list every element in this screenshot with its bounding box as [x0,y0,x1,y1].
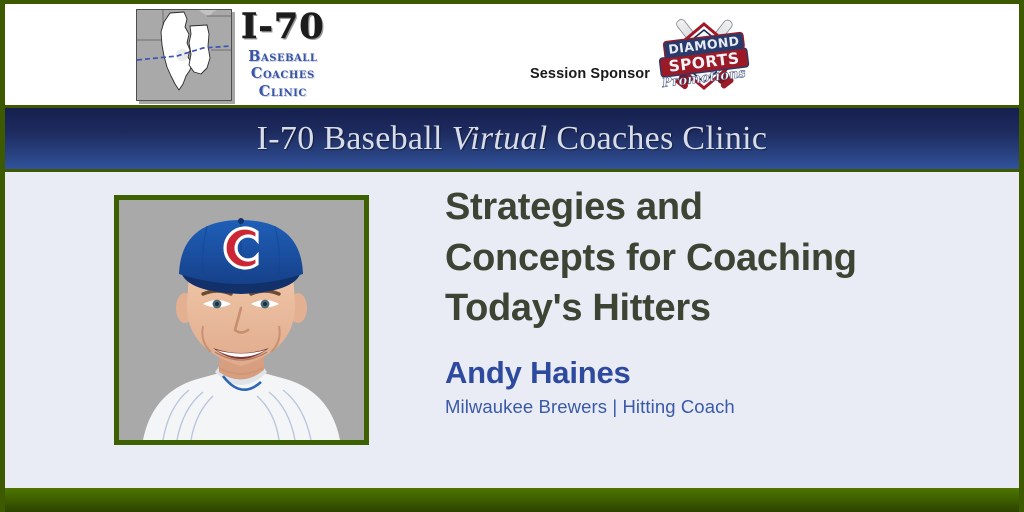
event-banner: I-70 Baseball Virtual Coaches Clinic [5,105,1019,172]
i70-logo-line-baseball: Baseball [248,48,317,65]
session-sponsor-label: Session Sponsor [530,66,650,82]
i70-logo-title: I-70 [241,9,325,44]
session-title: Strategies and Concepts for Coaching Tod… [445,182,999,334]
i70-clinic-logo: I-70 Baseball Coaches Clinic [136,7,351,102]
illinois-indiana-map-icon [136,9,232,101]
diamond-sports-promotions-logo: DIAMOND SPORTS Promotions [652,8,756,100]
speaker-role: Milwaukee Brewers | Hitting Coach [445,396,999,418]
slide-body: Strategies and Concepts for Coaching Tod… [5,172,1019,480]
footer-green-bar [5,488,1019,512]
banner-title-emphasis: Virtual [452,120,548,157]
speaker-headshot-photo [114,195,369,445]
presentation-slide: I-70 Baseball Coaches Clinic Session Spo… [0,0,1024,512]
session-content: Strategies and Concepts for Coaching Tod… [445,182,999,418]
banner-title-prefix: I-70 Baseball [257,120,452,157]
banner-title-suffix: Coaches Clinic [548,120,768,157]
i70-logo-text: I-70 Baseball Coaches Clinic [241,9,325,99]
session-title-line-2: Concepts for Coaching [445,233,999,284]
speaker-name: Andy Haines [445,355,999,391]
session-title-line-3: Today's Hitters [445,283,999,334]
session-title-line-1: Strategies and [445,182,999,233]
slide-header: I-70 Baseball Coaches Clinic Session Spo… [5,4,1019,105]
i70-logo-line-clinic: Clinic [248,83,317,100]
i70-logo-subtitle: Baseball Coaches Clinic [248,48,317,99]
event-banner-title: I-70 Baseball Virtual Coaches Clinic [257,120,768,158]
i70-logo-line-coaches: Coaches [248,65,317,82]
